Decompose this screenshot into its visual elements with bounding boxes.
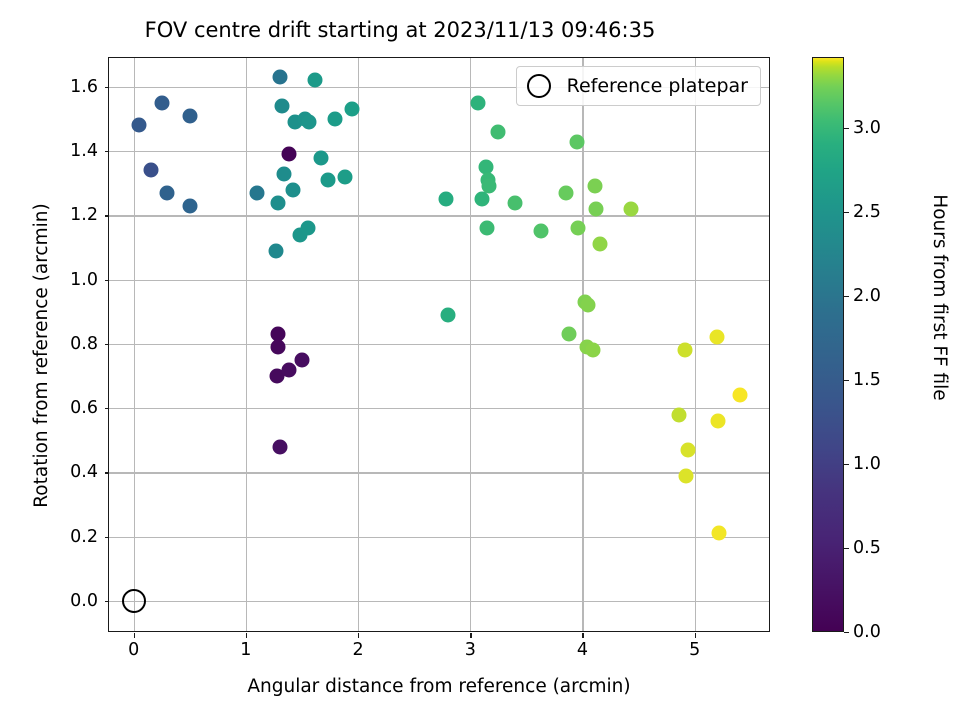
x-tick	[470, 633, 471, 638]
data-point	[294, 352, 309, 367]
data-point	[711, 413, 726, 428]
data-point	[301, 115, 316, 130]
data-point	[132, 118, 147, 133]
x-tick	[582, 633, 583, 638]
data-point	[286, 182, 301, 197]
colorbar-tick	[844, 212, 849, 213]
data-point	[558, 185, 573, 200]
gridline-horizontal	[109, 344, 769, 345]
y-tick	[105, 215, 110, 216]
x-tick-label: 1	[240, 640, 251, 660]
colorbar-tick-label: 1.0	[853, 454, 881, 474]
x-axis-label: Angular distance from reference (arcmin)	[108, 676, 770, 697]
y-tick	[105, 601, 110, 602]
data-point	[182, 198, 197, 213]
data-point	[154, 95, 169, 110]
data-point	[587, 179, 602, 194]
y-tick	[105, 344, 110, 345]
data-point	[677, 343, 692, 358]
data-point	[277, 166, 292, 181]
data-point	[271, 340, 286, 355]
reference-platepar-point	[122, 589, 146, 613]
x-tick-label: 0	[128, 640, 139, 660]
data-point	[440, 307, 455, 322]
gridline-horizontal	[109, 601, 769, 602]
data-point	[308, 73, 323, 88]
x-tick	[695, 633, 696, 638]
data-point	[320, 173, 335, 188]
scatter-plot-figure: FOV centre drift starting at 2023/11/13 …	[0, 0, 960, 720]
data-point	[474, 192, 489, 207]
x-tick	[358, 633, 359, 638]
data-point	[671, 407, 686, 422]
colorbar-tick-label: 1.5	[853, 370, 881, 390]
data-point	[281, 362, 296, 377]
y-tick	[105, 151, 110, 152]
colorbar-tick	[844, 128, 849, 129]
gridline-horizontal	[109, 280, 769, 281]
colorbar-tick-label: 2.0	[853, 286, 881, 306]
y-tick-label: 1.2	[70, 205, 98, 225]
gridline-horizontal	[109, 151, 769, 152]
colorbar-label: Hours from first FF file	[929, 10, 950, 585]
data-point	[250, 185, 265, 200]
colorbar-tick	[844, 632, 849, 633]
data-point	[562, 327, 577, 342]
y-tick-label: 0.0	[70, 591, 98, 611]
y-tick	[105, 537, 110, 538]
data-point	[272, 70, 287, 85]
data-point	[314, 150, 329, 165]
data-point	[281, 147, 296, 162]
data-point	[732, 388, 747, 403]
x-tick-label: 5	[689, 640, 700, 660]
x-tick-label: 4	[577, 640, 588, 660]
data-point	[491, 124, 506, 139]
colorbar: 0.00.51.01.52.02.53.0	[812, 57, 844, 632]
data-point	[438, 192, 453, 207]
y-axis-label: Rotation from reference (arcmin)	[31, 68, 52, 643]
data-point	[593, 237, 608, 252]
y-tick-label: 0.4	[70, 462, 98, 482]
colorbar-tick-label: 2.5	[853, 202, 881, 222]
data-point	[623, 201, 638, 216]
page-title: FOV centre drift starting at 2023/11/13 …	[0, 18, 800, 42]
gridline-horizontal	[109, 408, 769, 409]
plot-area	[109, 58, 769, 631]
x-tick	[134, 633, 135, 638]
y-tick-label: 0.8	[70, 334, 98, 354]
y-tick	[105, 472, 110, 473]
data-point	[712, 526, 727, 541]
data-point	[710, 330, 725, 345]
colorbar-tick	[844, 548, 849, 549]
data-point	[160, 185, 175, 200]
data-point	[581, 298, 596, 313]
data-point	[271, 195, 286, 210]
x-tick	[246, 633, 247, 638]
y-tick	[105, 87, 110, 88]
legend-label: Reference platepar	[567, 75, 748, 97]
data-point	[585, 343, 600, 358]
data-point	[678, 468, 693, 483]
data-point	[327, 112, 342, 127]
y-tick	[105, 408, 110, 409]
legend: Reference platepar	[516, 66, 761, 106]
data-point	[680, 442, 695, 457]
gridline-horizontal	[109, 472, 769, 473]
data-point	[143, 163, 158, 178]
data-point	[274, 99, 289, 114]
x-tick-label: 3	[465, 640, 476, 660]
y-tick-label: 0.6	[70, 398, 98, 418]
data-point	[345, 102, 360, 117]
data-point	[337, 169, 352, 184]
data-point	[471, 95, 486, 110]
colorbar-tick-label: 0.0	[853, 622, 881, 642]
colorbar-tick	[844, 464, 849, 465]
colorbar-tick	[844, 296, 849, 297]
y-tick	[105, 280, 110, 281]
data-point	[508, 195, 523, 210]
x-tick-label: 2	[353, 640, 364, 660]
colorbar-tick-label: 3.0	[853, 118, 881, 138]
y-tick-label: 0.2	[70, 527, 98, 547]
gridline-horizontal	[109, 215, 769, 216]
y-tick-label: 1.6	[70, 77, 98, 97]
data-point	[533, 224, 548, 239]
data-point	[272, 439, 287, 454]
y-tick-label: 1.0	[70, 270, 98, 290]
y-tick-label: 1.4	[70, 141, 98, 161]
colorbar-tick-label: 0.5	[853, 538, 881, 558]
gridline-horizontal	[109, 537, 769, 538]
data-point	[269, 243, 284, 258]
data-point	[571, 221, 586, 236]
data-point	[480, 221, 495, 236]
data-point	[569, 134, 584, 149]
data-point	[182, 108, 197, 123]
reference-platepar-marker-icon	[527, 74, 551, 98]
colorbar-gradient	[812, 57, 844, 632]
data-point	[482, 179, 497, 194]
colorbar-tick	[844, 380, 849, 381]
data-point	[588, 201, 603, 216]
plot-axes: Reference platepar 0123450.00.20.40.60.8…	[108, 57, 770, 632]
data-point	[300, 221, 315, 236]
